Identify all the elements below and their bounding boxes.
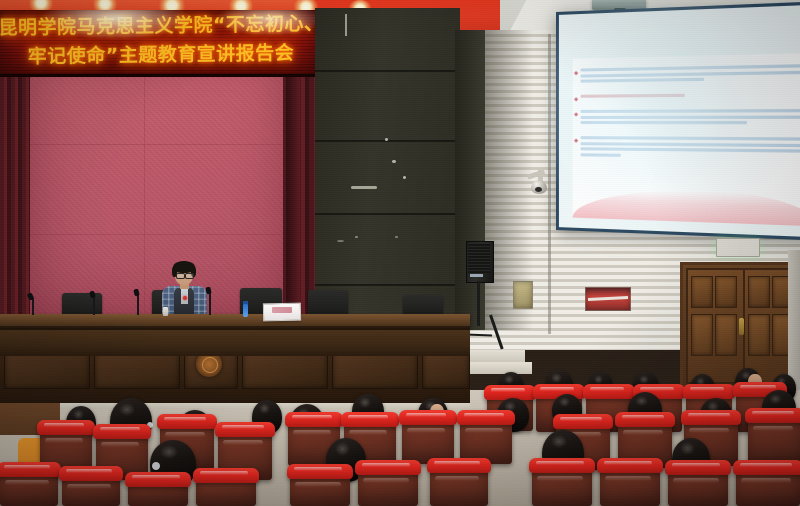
slide-bullet bbox=[581, 109, 800, 124]
wall-niche-window bbox=[585, 287, 631, 311]
banner-light-reflection bbox=[215, 10, 318, 36]
door-panel bbox=[715, 314, 737, 356]
hair-clip bbox=[152, 462, 160, 470]
stage-backdrop bbox=[26, 58, 286, 320]
microphone-stem bbox=[209, 293, 211, 315]
slide-bullet bbox=[581, 64, 800, 83]
door-panel bbox=[691, 276, 713, 308]
audience-seat[interactable] bbox=[532, 466, 592, 506]
paper-cup bbox=[163, 307, 168, 316]
audience-seat[interactable] bbox=[196, 476, 256, 506]
wall-niche bbox=[513, 281, 533, 309]
bullet-marker-icon bbox=[574, 112, 578, 116]
stage-chair bbox=[308, 290, 348, 317]
microphone-stem bbox=[32, 298, 34, 315]
slide-accent-band bbox=[573, 187, 800, 226]
audience-seat[interactable] bbox=[748, 416, 800, 464]
microphone-stem bbox=[93, 296, 95, 315]
wall-blemish bbox=[355, 236, 358, 238]
stage-table-front bbox=[0, 330, 470, 356]
wall-blemish bbox=[385, 138, 388, 141]
wall-cable bbox=[345, 14, 347, 36]
door-panel bbox=[748, 314, 770, 356]
presenter-lapel-badge bbox=[183, 296, 187, 300]
audience-seat[interactable] bbox=[668, 468, 728, 506]
wall-blemish bbox=[351, 186, 377, 189]
door-panel bbox=[748, 276, 770, 308]
audience-seat[interactable] bbox=[0, 470, 58, 506]
emergency-exit-sign bbox=[716, 238, 760, 257]
audience-seat[interactable] bbox=[736, 468, 800, 506]
name-placard-text bbox=[272, 307, 292, 313]
auditorium-photograph: 昆明学院马克思主义学院“不忘初心、 牢记使命”主题教育宣讲报告会 bbox=[0, 0, 800, 506]
audience-seat[interactable] bbox=[430, 466, 488, 506]
audience-seat[interactable] bbox=[358, 468, 418, 506]
wall-blemish bbox=[392, 160, 396, 163]
slide-bullet bbox=[581, 92, 800, 97]
stage-curtain-fold bbox=[286, 46, 300, 316]
projection-screen bbox=[556, 1, 800, 241]
banner-line-2: 牢记使命”主题教育宣讲报告会 bbox=[0, 39, 318, 73]
audience-seat[interactable] bbox=[600, 466, 660, 506]
wall-blemish bbox=[395, 236, 398, 238]
water-bottle bbox=[243, 304, 248, 317]
water-bottle-cap bbox=[243, 301, 248, 304]
audience-seat[interactable] bbox=[62, 474, 120, 506]
camera-lens-icon bbox=[535, 187, 542, 192]
door-panel bbox=[691, 314, 713, 356]
microphone-stem bbox=[137, 295, 139, 315]
bullet-marker-icon bbox=[574, 139, 578, 143]
presentation-slide bbox=[573, 53, 800, 226]
wall-corner-line bbox=[548, 34, 551, 334]
door-handle[interactable] bbox=[739, 318, 744, 335]
presenter-eyeglasses-icon bbox=[176, 273, 185, 279]
door-panel bbox=[715, 276, 737, 308]
wall-blemish bbox=[337, 240, 344, 242]
speaker-grille-icon bbox=[468, 243, 490, 273]
slide-bullet bbox=[581, 136, 800, 159]
tripod-pole bbox=[477, 281, 480, 326]
stage-curtain-left bbox=[0, 46, 30, 324]
wall-blemish bbox=[403, 176, 406, 179]
bullet-marker-icon bbox=[574, 97, 578, 101]
bullet-marker-icon bbox=[574, 71, 578, 75]
stage-crest-ring bbox=[202, 357, 218, 373]
wall-corner-dark bbox=[455, 30, 485, 330]
audience-seat[interactable] bbox=[290, 472, 350, 506]
presenter-eyeglasses-icon bbox=[185, 273, 194, 279]
dark-wood-panel-wall bbox=[315, 8, 460, 338]
speaker-brand-badge bbox=[470, 274, 483, 277]
banner-light-reflection bbox=[40, 10, 190, 40]
audience-seat[interactable] bbox=[128, 480, 188, 506]
led-banner: 昆明学院马克思主义学院“不忘初心、 牢记使命”主题教育宣讲报告会 bbox=[0, 10, 318, 77]
